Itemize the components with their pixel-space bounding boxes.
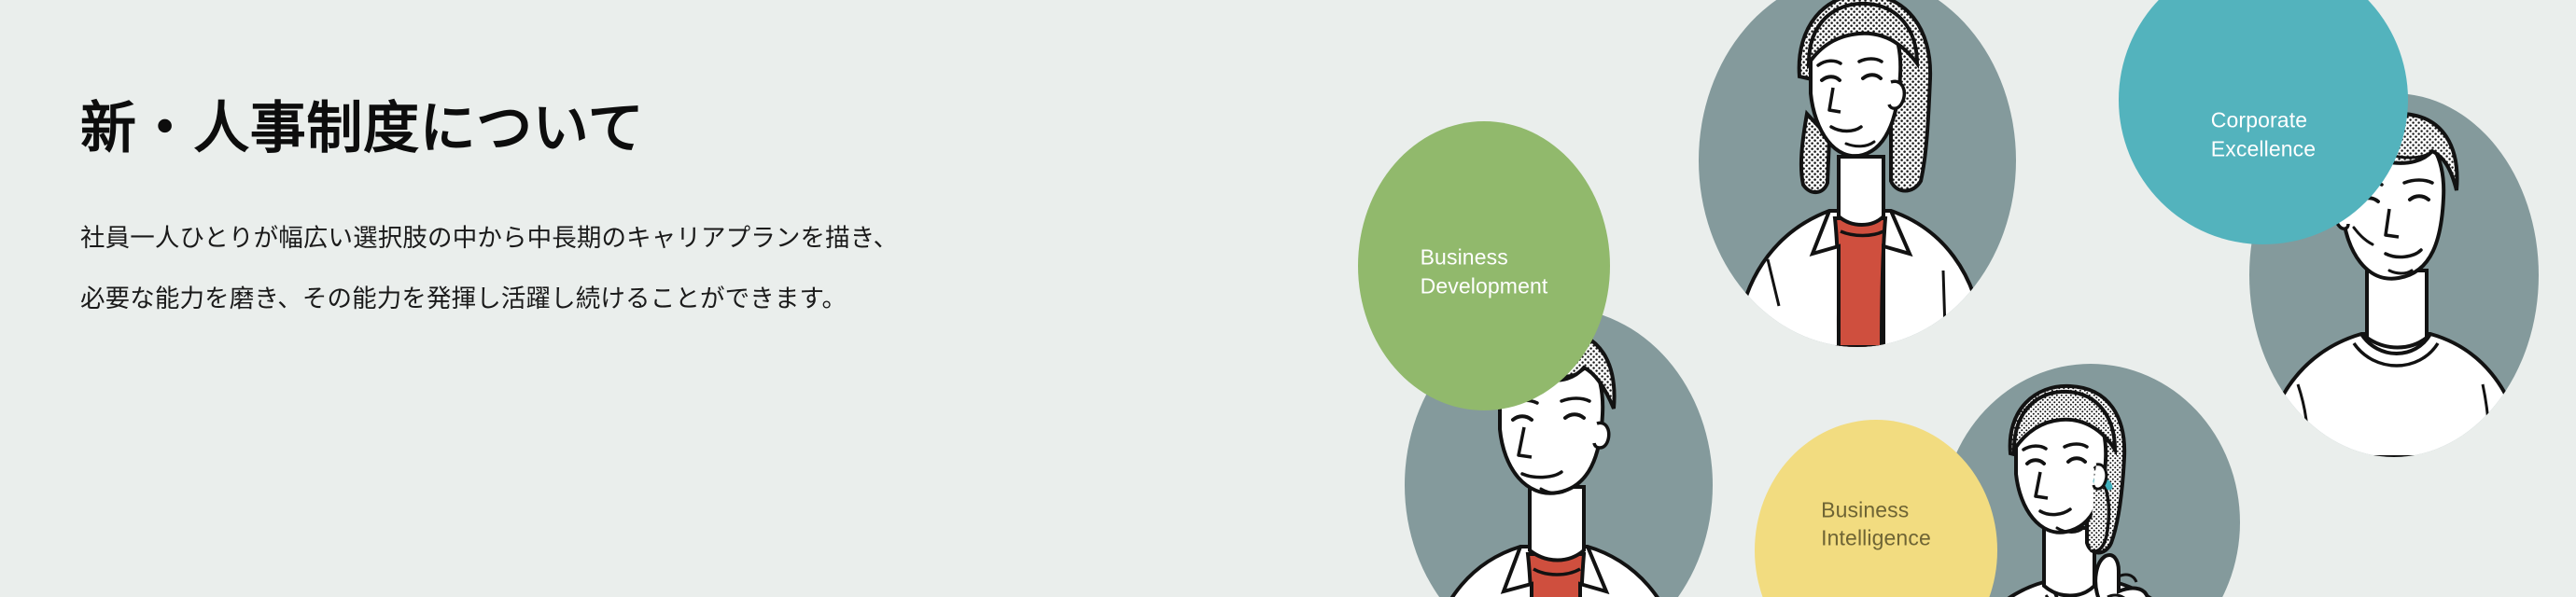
hero-banner: 新・人事制度について 社員一人ひとりが幅広い選択肢の中から中長期のキャリアプラン… [0,0,2576,597]
label-business-intelligence: Business Intelligence [1821,496,1931,553]
label-circle-business-development[interactable]: Business Development [1358,121,1610,410]
illustration-cluster: Business Development Corporate Excellenc… [1307,0,2576,597]
hero-description-line-1: 社員一人ひとりが幅広い選択肢の中から中長期のキャリアプランを描き、 [80,208,1247,269]
page-title: 新・人事制度について [80,93,1247,163]
label-corporate-excellence: Corporate Excellence [2211,106,2316,163]
label-business-development: Business Development [1421,243,1548,300]
portrait-circle-woman-blazer [1699,0,2016,347]
hero-description: 社員一人ひとりが幅広い選択肢の中から中長期のキャリアプランを描き、 必要な能力を… [80,163,1247,329]
hero-text-block: 新・人事制度について 社員一人ひとりが幅広い選択肢の中から中長期のキャリアプラン… [80,93,1247,329]
hero-description-line-2: 必要な能力を磨き、その能力を発揮し活躍し続けることができます。 [80,269,1247,329]
portrait-woman-blazer-icon [1699,0,2016,347]
